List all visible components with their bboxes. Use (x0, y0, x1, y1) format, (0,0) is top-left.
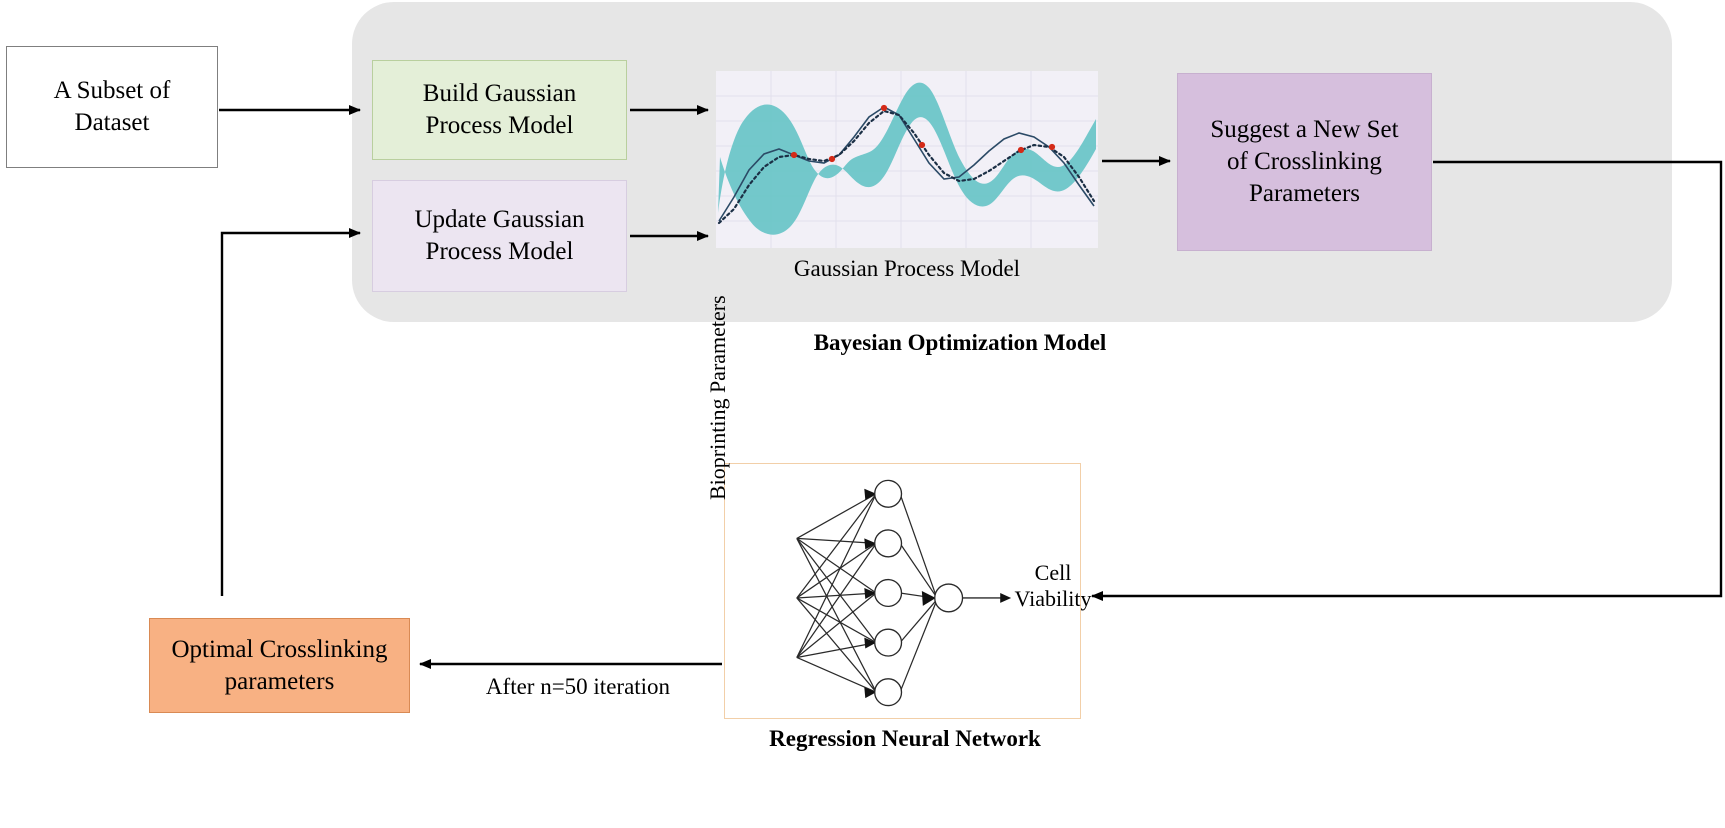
node-suggest-new-crosslinking-parameters[interactable]: Suggest a New Set of Crosslinking Parame… (1177, 73, 1432, 251)
optimal-line-1: Optimal Crosslinking (166, 634, 394, 666)
gaussian-process-plot (716, 71, 1098, 248)
cell-viability-line-1: Cell (998, 560, 1108, 586)
suggest-line-3: Parameters (1204, 178, 1404, 210)
optimal-line-2: parameters (166, 666, 394, 698)
nn-output-label: Cell Viability (998, 560, 1108, 613)
nn-input-label: Bioprinting Parameters (705, 300, 731, 500)
nn-hidden-nodes (875, 480, 902, 705)
subset-line-2: Dataset (48, 107, 177, 139)
node-optimal-crosslinking-parameters[interactable]: Optimal Crosslinking parameters (149, 618, 410, 713)
after-iteration-label: After n=50 iteration (478, 673, 678, 701)
build-gp-line-1: Build Gaussian (417, 78, 582, 110)
regression-neural-network-caption: Regression Neural Network (705, 726, 1105, 752)
node-update-gaussian-process-model[interactable]: Update Gaussian Process Model (372, 180, 627, 292)
build-gp-line-2: Process Model (417, 110, 582, 142)
suggest-line-2: of Crosslinking (1204, 146, 1404, 178)
gp-plot-svg (716, 71, 1098, 248)
node-subset-of-dataset[interactable]: A Subset of Dataset (6, 46, 218, 168)
update-gp-line-2: Process Model (408, 236, 590, 268)
arrow-feedback-to-update-gp (222, 233, 360, 596)
nn-output-node (935, 584, 963, 612)
cell-viability-line-2: Viability (998, 586, 1108, 612)
bayesian-optimization-caption: Bayesian Optimization Model (760, 330, 1160, 356)
node-build-gaussian-process-model[interactable]: Build Gaussian Process Model (372, 60, 627, 160)
subset-line-1: A Subset of (48, 75, 177, 107)
suggest-line-1: Suggest a New Set (1204, 114, 1404, 146)
update-gp-line-1: Update Gaussian (408, 204, 590, 236)
gaussian-process-plot-caption: Gaussian Process Model (707, 256, 1107, 282)
